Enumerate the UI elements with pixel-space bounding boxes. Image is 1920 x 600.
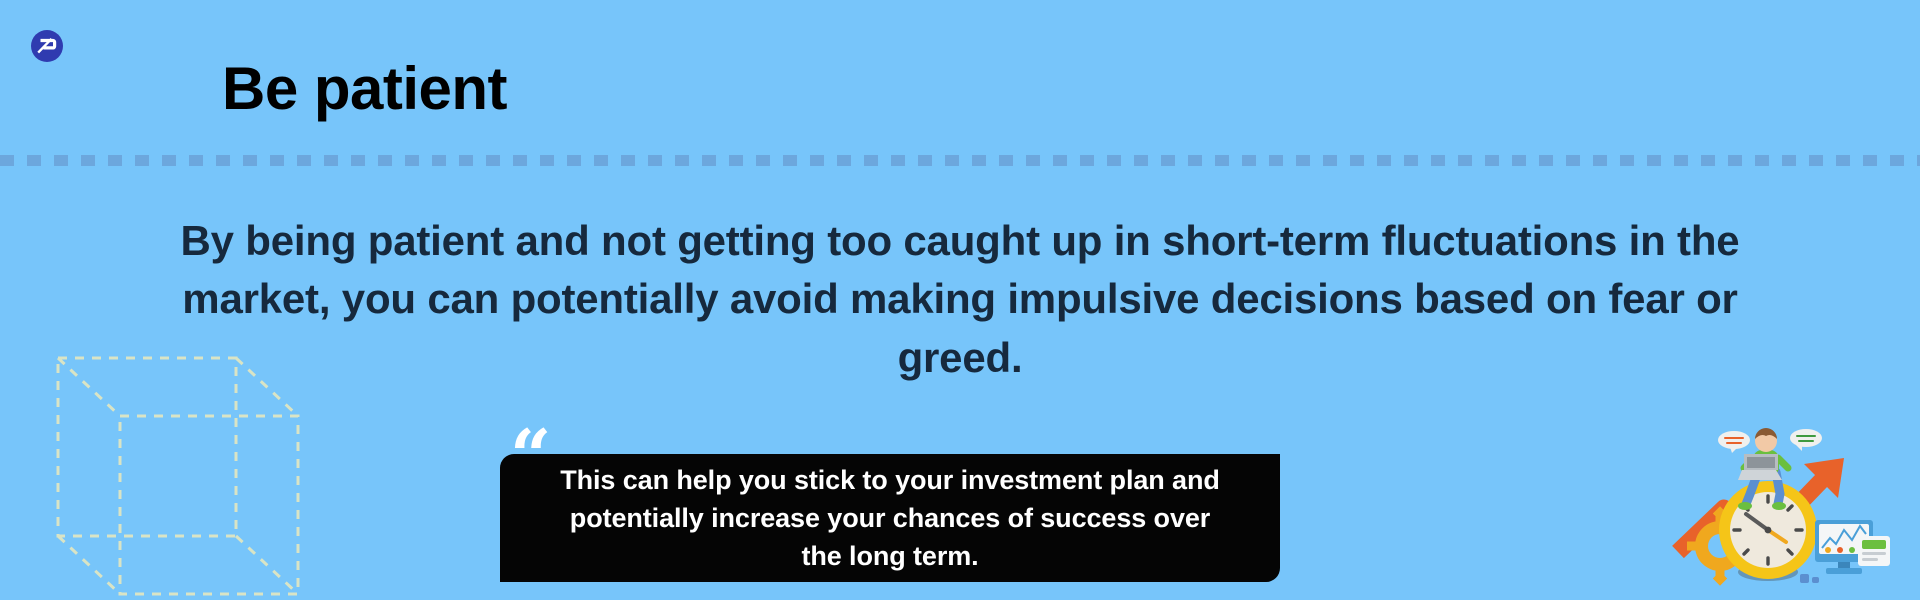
p-monogram-circle-logo-icon: [29, 28, 65, 64]
dashed-wireframe-cube-icon: [52, 352, 312, 600]
quote-callout: “ This can help you stick to your invest…: [500, 444, 1280, 582]
person-on-clock-growth-chart-illustration-icon: [1672, 424, 1892, 600]
open-quote-icon: “: [510, 420, 551, 492]
body-paragraph: By being patient and not getting too cau…: [150, 212, 1770, 387]
dashed-divider: [0, 155, 1920, 166]
slide-canvas: Be patient By being patient and not gett…: [0, 0, 1920, 600]
quote-box: This can help you stick to your investme…: [500, 454, 1280, 582]
quote-text: This can help you stick to your investme…: [500, 461, 1280, 576]
page-title: Be patient: [222, 57, 507, 120]
